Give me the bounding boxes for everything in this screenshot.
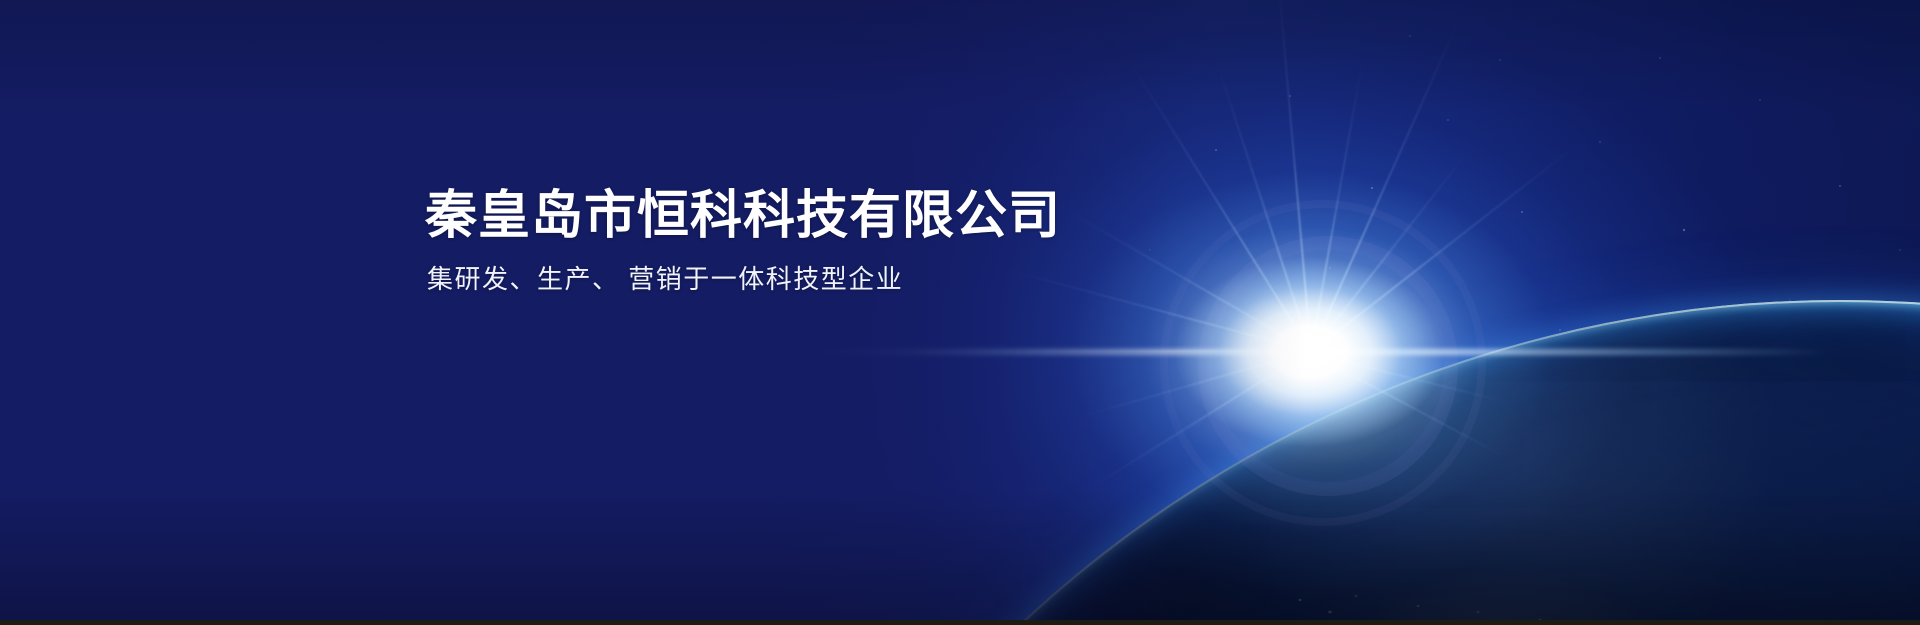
bottom-edge-strip [0, 620, 1920, 625]
company-title: 秦皇岛市恒科科技有限公司 [425, 186, 1061, 247]
hero-banner: 秦皇岛市恒科科技有限公司 集研发、生产、 营销于一体科技型企业 [0, 0, 1920, 625]
banner-text-block: 秦皇岛市恒科科技有限公司 集研发、生产、 营销于一体科技型企业 [425, 186, 1061, 297]
vignette-overlay [0, 0, 1920, 625]
company-tagline: 集研发、生产、 营销于一体科技型企业 [427, 263, 1061, 297]
